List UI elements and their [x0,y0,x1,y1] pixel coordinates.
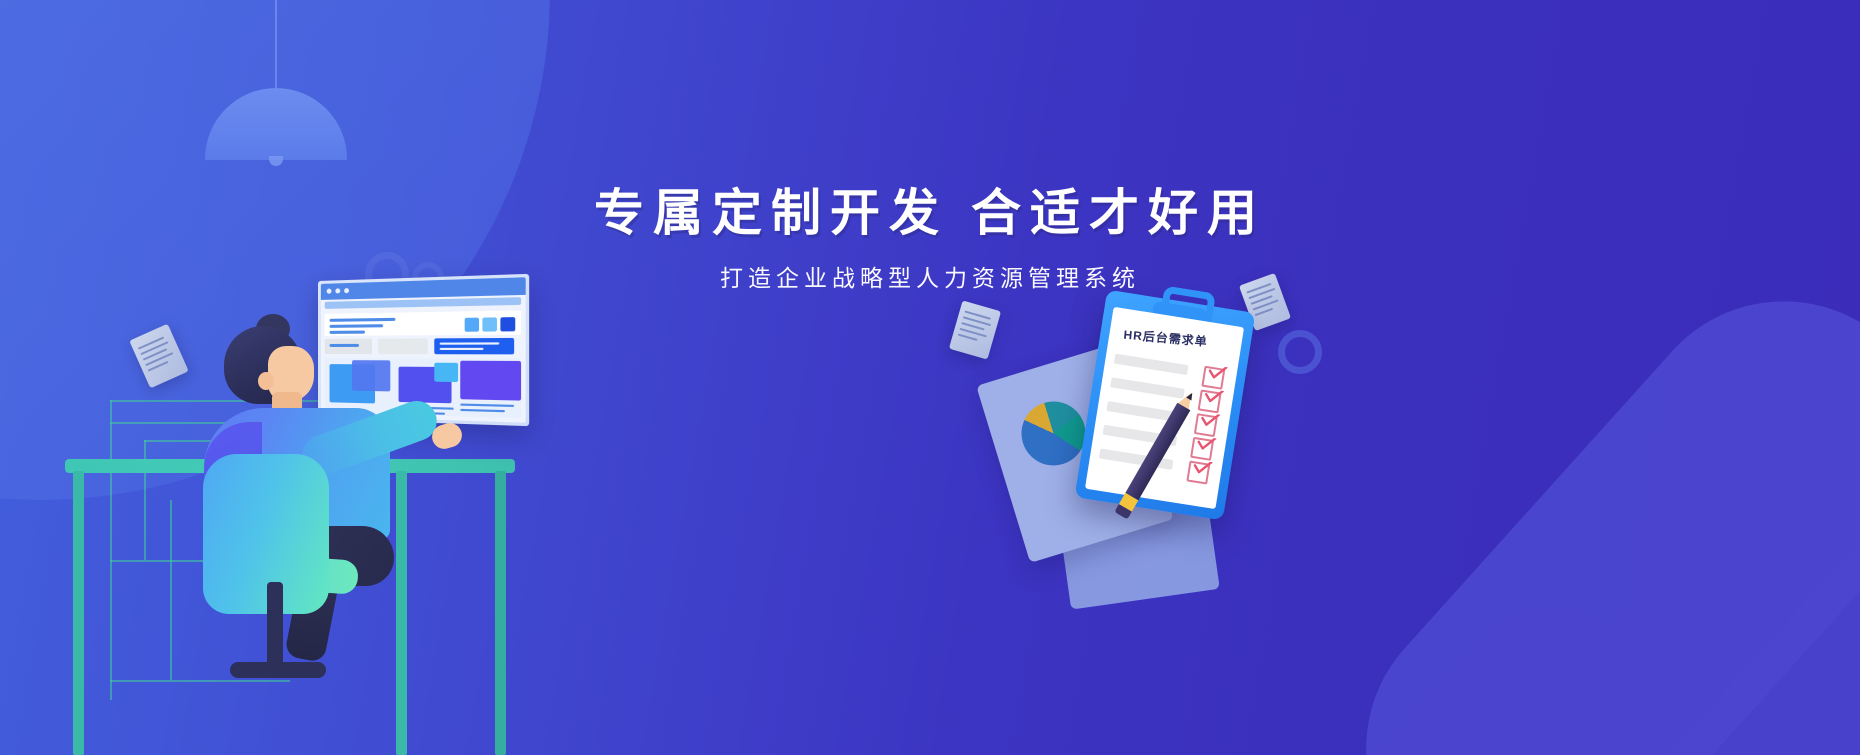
window-dots-icon [327,288,349,294]
clipboard: HR后台需求单 [1074,290,1255,521]
ear [258,372,274,390]
lamp-shade [205,88,347,160]
gear-right-icon [1278,330,1322,374]
hero-banner: HR后台需求单 [0,0,1860,755]
tile-e [460,361,521,401]
pendant-lamp-icon [205,0,347,160]
desk-leg-left [73,471,84,755]
desk-leg-right [495,471,506,755]
checkmark-icon [1203,388,1225,404]
lamp-cord [275,0,277,92]
clipboard-title: HR后台需求单 [1123,326,1209,350]
paper-mid [949,300,1001,359]
checkmark-icon [1192,459,1214,475]
chair-post [267,582,283,668]
clipboard-row [1114,354,1189,375]
chair-backrest [203,454,329,614]
checkmark-icon [1196,435,1218,451]
chair-base [230,662,326,678]
clipboard-row [1110,377,1185,398]
checkmark-icon [1199,412,1221,428]
checkmark-icon [1207,364,1229,380]
